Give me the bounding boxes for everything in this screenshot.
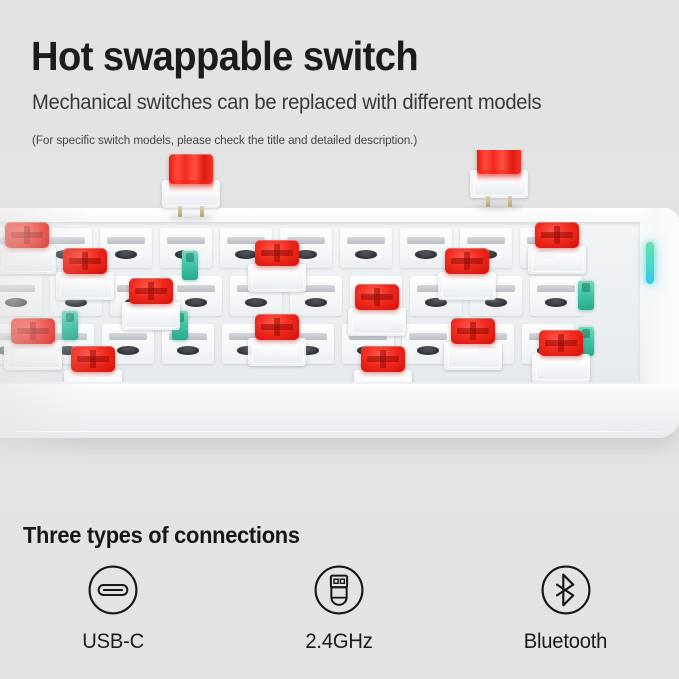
red-switch — [526, 222, 588, 274]
usb-dongle-icon — [312, 563, 366, 617]
socket-empty — [162, 324, 214, 364]
connections-title: Three types of connections — [23, 524, 300, 547]
red-switch — [530, 326, 592, 382]
stabilizer-insert — [182, 250, 198, 280]
red-switch — [442, 314, 504, 370]
socket-empty — [0, 276, 42, 316]
connection-item-usb-c: USB-C — [13, 563, 213, 654]
stabilizer-insert — [62, 310, 78, 340]
connections-section: Three types of connections USB-C — [0, 515, 679, 679]
socket-empty — [340, 228, 392, 268]
red-switch — [120, 274, 182, 330]
connection-item-bluetooth: Bluetooth — [466, 563, 666, 654]
red-switch — [54, 244, 116, 300]
product-photo — [0, 150, 679, 515]
connection-item-2-4ghz: 2.4GHz — [239, 563, 439, 654]
connections-row: USB-C 2.4GHz Blu — [0, 563, 679, 654]
connection-label: USB-C — [82, 630, 144, 654]
product-feature-graphic: Hot swappable switch Mechanical switches… — [0, 0, 679, 679]
red-switch — [246, 236, 308, 292]
usb-c-icon — [86, 563, 140, 617]
red-switch — [246, 310, 308, 366]
page-subtitle: Mechanical switches can be replaced with… — [32, 92, 541, 114]
red-switch — [346, 280, 408, 336]
switch-plate — [0, 222, 640, 382]
header-section: Hot swappable switch Mechanical switches… — [0, 0, 679, 152]
bluetooth-icon — [539, 563, 593, 617]
disclaimer-note: (For specific switch models, please chec… — [32, 134, 417, 146]
page-title: Hot swappable switch — [31, 36, 418, 77]
socket-empty — [530, 276, 582, 316]
red-switch — [2, 314, 64, 370]
red-switch — [436, 244, 498, 300]
red-switch — [160, 152, 222, 208]
red-switch — [62, 342, 124, 382]
red-switch — [352, 342, 414, 382]
stabilizer-insert — [578, 280, 594, 310]
keyboard-case — [0, 208, 679, 438]
connection-label: 2.4GHz — [306, 630, 373, 654]
red-switch — [0, 222, 58, 274]
connection-label: Bluetooth — [524, 630, 607, 654]
red-switch — [468, 150, 530, 198]
status-led-strip — [646, 242, 654, 284]
case-front-lip — [0, 384, 679, 438]
